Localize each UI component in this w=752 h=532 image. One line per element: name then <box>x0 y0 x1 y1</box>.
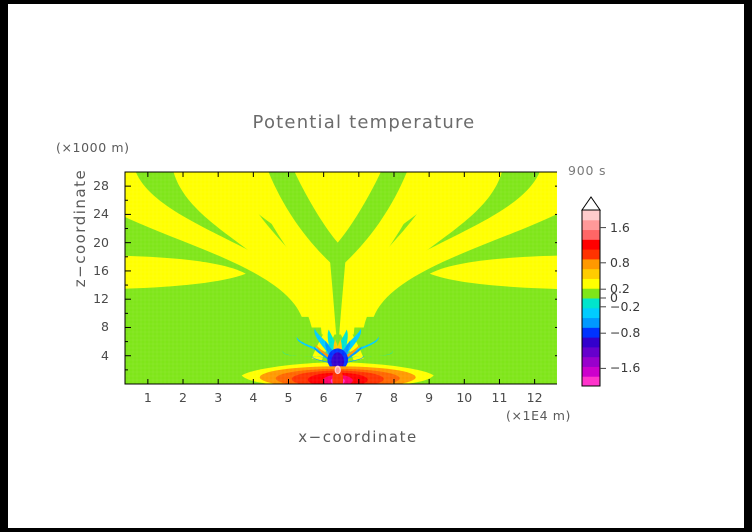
colorbar-tick-label: −1.6 <box>610 360 640 375</box>
x-tick-label: 11 <box>487 390 511 405</box>
colorbar-tick-label: −0.8 <box>610 325 640 340</box>
figure-canvas: Potential temperature (×1000 m) (×1E4 m)… <box>8 4 744 528</box>
y-tick-label: 4 <box>75 348 109 363</box>
colorbar-band <box>582 337 600 347</box>
colorbar-band <box>582 239 600 249</box>
x-tick-label: 6 <box>312 390 336 405</box>
colorbar-band <box>582 298 600 308</box>
x-tick-label: 3 <box>206 390 230 405</box>
y-axis-title: z−coordinate <box>71 148 89 308</box>
colorbar-band <box>582 327 600 337</box>
colorbar-band <box>582 357 600 367</box>
x-axis-title: x−coordinate <box>228 428 488 446</box>
page-title: Potential temperature <box>224 112 504 133</box>
x-tick-label: 9 <box>417 390 441 405</box>
x-tick-label: 5 <box>277 390 301 405</box>
x-axis-unit-label: (×1E4 m) <box>506 408 571 423</box>
y-tick-label: 28 <box>75 178 109 193</box>
contour-plot <box>117 168 557 388</box>
colorbar-band <box>582 220 600 230</box>
x-tick-label: 10 <box>452 390 476 405</box>
colorbar-tick-label: −0.2 <box>610 299 640 314</box>
colorbar-band <box>582 347 600 357</box>
colorbar-band <box>582 376 600 386</box>
y-tick-label: 8 <box>75 319 109 334</box>
colorbar-band <box>582 259 600 269</box>
colorbar <box>574 194 614 394</box>
x-tick-label: 1 <box>136 390 160 405</box>
y-axis-unit-label: (×1000 m) <box>56 140 130 155</box>
colorbar-band <box>582 269 600 279</box>
colorbar-band <box>582 366 600 376</box>
colorbar-band <box>582 249 600 259</box>
x-tick-label: 12 <box>523 390 547 405</box>
y-tick-label: 12 <box>75 291 109 306</box>
x-tick-label: 7 <box>347 390 371 405</box>
colorbar-band <box>582 308 600 318</box>
y-tick-label: 20 <box>75 235 109 250</box>
colorbar-band <box>582 210 600 220</box>
colorbar-band <box>582 278 600 288</box>
colorbar-band <box>582 288 600 298</box>
x-tick-label: 4 <box>241 390 265 405</box>
x-tick-label: 2 <box>171 390 195 405</box>
x-tick-label: 8 <box>382 390 406 405</box>
time-annotation: 900 s <box>568 163 606 178</box>
colorbar-band <box>582 230 600 240</box>
y-tick-label: 16 <box>75 263 109 278</box>
colorbar-band <box>582 318 600 328</box>
y-tick-label: 24 <box>75 206 109 221</box>
